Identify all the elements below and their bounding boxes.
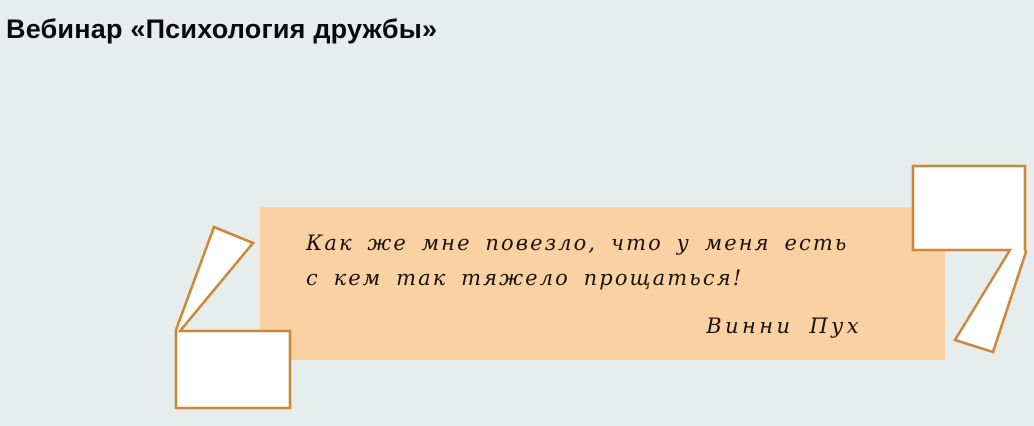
quote-text: Как же мне повезло, что у меня есть с ке… xyxy=(306,226,872,296)
pull-quote: Как же мне повезло, что у меня есть с ке… xyxy=(0,0,1034,426)
open-quotation-mark-icon xyxy=(176,227,290,408)
close-quotation-mark-icon xyxy=(913,166,1026,352)
slide-canvas: Вебинар «Психология дружбы» Как же мне п… xyxy=(0,0,1034,426)
quote-content: Как же мне повезло, что у меня есть с ке… xyxy=(306,226,872,341)
quote-author: Винни Пух xyxy=(306,311,872,341)
quote-marks-group xyxy=(0,0,1034,426)
